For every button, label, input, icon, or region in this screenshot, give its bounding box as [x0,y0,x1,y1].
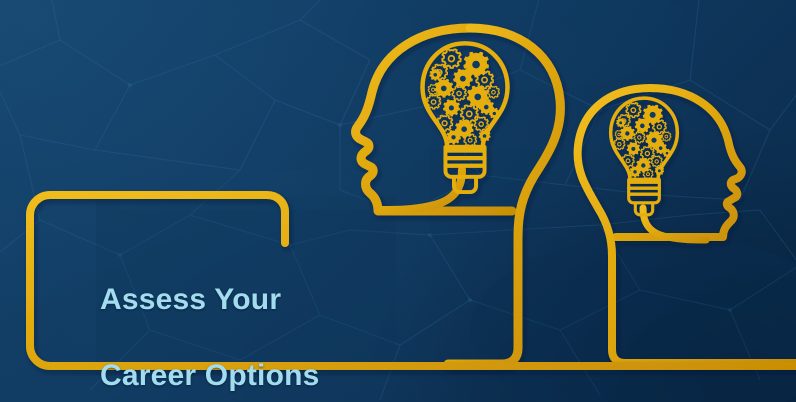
headline-line-2: Career Options [100,357,400,395]
page-title: Assess Your Career Options [100,243,400,402]
career-options-banner: Assess Your Career Options [0,0,796,402]
head-profile-small [578,88,796,363]
headline-line-1: Assess Your [100,281,400,319]
lightbulb-gears-small [611,98,678,215]
